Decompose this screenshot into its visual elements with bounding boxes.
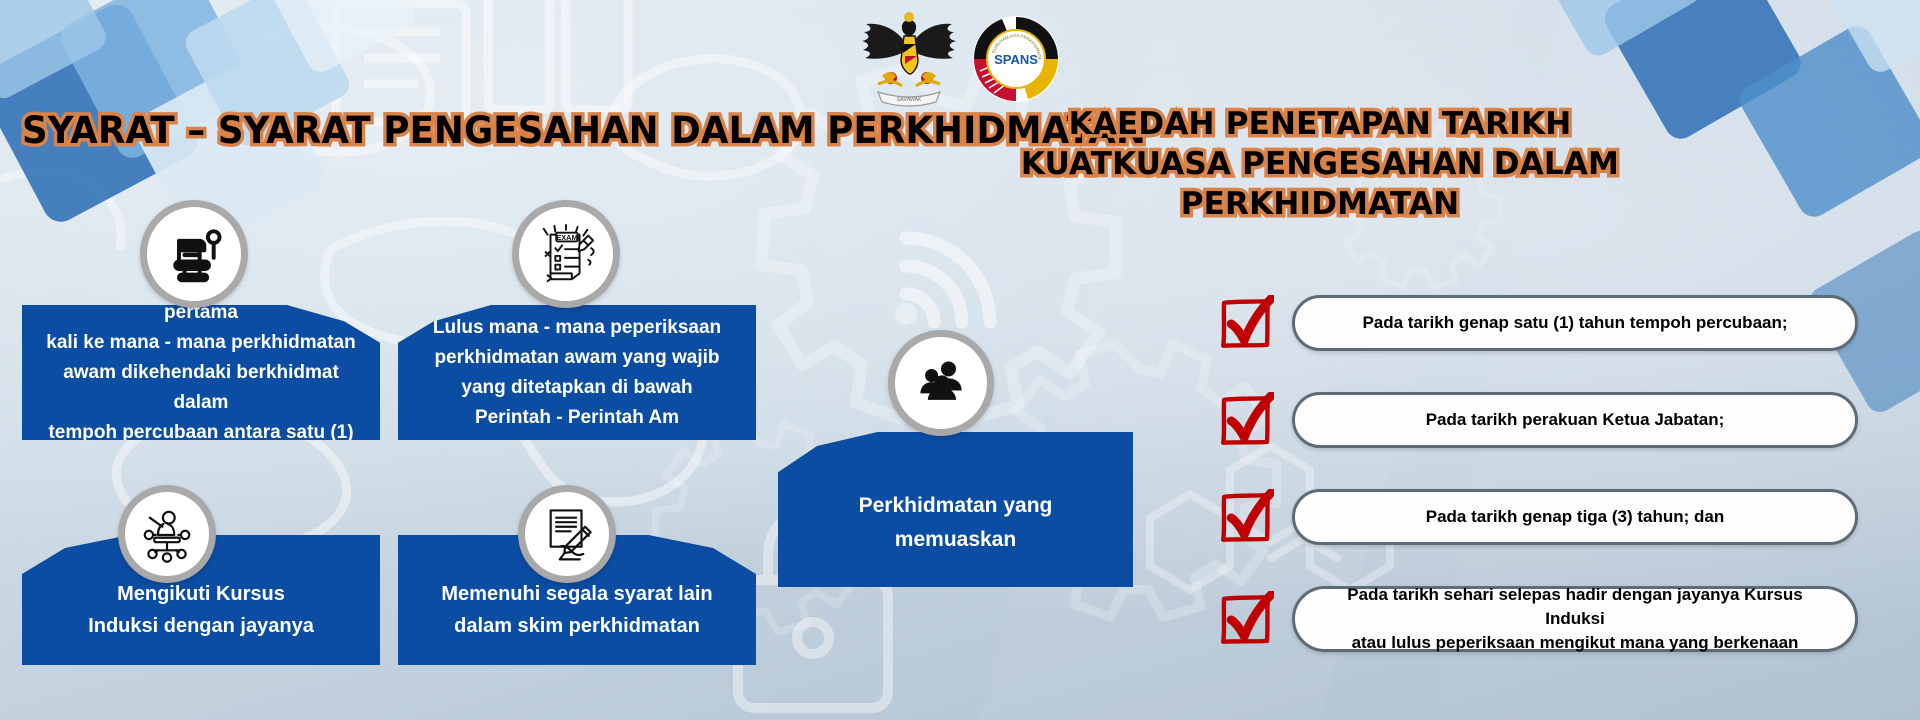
- card-tempoh-percubaan: Setiap pegawai yang dilantik pertama kal…: [22, 305, 380, 440]
- card1-line-2: kali ke mana - mana perkhidmatan: [36, 328, 366, 358]
- card1-line-3: awam dikehendaki berkhidmat dalam: [36, 358, 366, 418]
- kaedah-pill-4: Pada tarikh sehari selepas hadir dengan …: [1292, 586, 1858, 652]
- group-people-icon: [911, 353, 971, 413]
- exam-paper-pencil-icon-circle: EXAM: [512, 200, 620, 308]
- kaedah-pill-1: Pada tarikh genap satu (1) tahun tempoh …: [1292, 295, 1858, 351]
- kaedah-row-2: Pada tarikh perakuan Ketua Jabatan;: [1218, 392, 1858, 448]
- kaedah-1-line-1: Pada tarikh genap satu (1) tahun tempoh …: [1362, 311, 1787, 335]
- card5-line-2: memuaskan: [792, 523, 1119, 557]
- logo-group: SARAWAK SPANS SURUHANJAYA PERKHIDMATAN A…: [860, 6, 1060, 112]
- group-people-icon-circle: [888, 330, 994, 436]
- card3-line-2: Induksi dengan jayanya: [36, 610, 366, 642]
- red-checkbox-icon: [1218, 489, 1274, 545]
- svg-text:EXAM: EXAM: [556, 233, 577, 242]
- svg-text:SARAWAK: SARAWAK: [897, 97, 922, 103]
- kaedah-pill-2: Pada tarikh perakuan Ketua Jabatan;: [1292, 392, 1858, 448]
- signing-document-icon-circle: [518, 485, 616, 583]
- card4-line-1: Memenuhi segala syarat lain: [412, 578, 742, 610]
- training-presentation-icon-circle: [118, 485, 216, 583]
- kaedah-pill-3: Pada tarikh genap tiga (3) tahun; dan: [1292, 489, 1858, 545]
- kaedah-row-1: Pada tarikh genap satu (1) tahun tempoh …: [1218, 295, 1858, 351]
- kaedah-4-line-1: Pada tarikh sehari selepas hadir dengan …: [1317, 583, 1833, 631]
- card2-line-1: Lulus mana - mana peperiksaan: [412, 313, 742, 343]
- card4-line-2: dalam skim perkhidmatan: [412, 610, 742, 642]
- kaedah-row-3: Pada tarikh genap tiga (3) tahun; dan: [1218, 489, 1858, 545]
- kaedah-2-line-1: Pada tarikh perakuan Ketua Jabatan;: [1426, 408, 1725, 432]
- red-checkbox-icon: [1218, 295, 1274, 351]
- card2-line-3: yang ditetapkan di bawah: [412, 373, 742, 403]
- right-title-line-2: KUATKUASA PENGESAHAN DALAM: [1010, 144, 1630, 184]
- kaedah-row-4: Pada tarikh sehari selepas hadir dengan …: [1218, 586, 1858, 652]
- red-checkbox-icon: [1218, 591, 1274, 647]
- left-panel-title: SYARAT – SYARAT PENGESAHAN DALAM PERKHID…: [22, 108, 1146, 154]
- kaedah-4-line-2: atau lulus peperiksaan mengikut mana yan…: [1317, 631, 1833, 655]
- lectern-podium-icon-circle: [140, 200, 248, 308]
- right-panel-title: KAEDAH PENETAPAN TARIKH KUATKUASA PENGES…: [1010, 104, 1630, 224]
- right-title-line-3: PERKHIDMATAN: [1010, 184, 1630, 224]
- card2-line-2: perkhidmatan awam yang wajib: [412, 343, 742, 373]
- red-checkbox-icon: [1218, 392, 1274, 448]
- card5-line-1: Perkhidmatan yang: [792, 489, 1119, 523]
- training-presentation-icon: [138, 505, 196, 563]
- svg-text:SPANS: SPANS: [994, 52, 1038, 67]
- card2-line-4: Perintah - Perintah Am: [412, 403, 742, 433]
- spans-logo-icon: SPANS SURUHANJAYA PERKHIDMATAN AWAM: [972, 15, 1060, 103]
- infographic-canvas: SARAWAK SPANS SURUHANJAYA PERKHIDMATAN A…: [0, 0, 1920, 720]
- card3-line-1: Mengikuti Kursus: [36, 578, 366, 610]
- sarawak-state-crest-icon: SARAWAK: [860, 6, 958, 112]
- lectern-podium-icon: [164, 224, 224, 284]
- right-title-line-1: KAEDAH PENETAPAN TARIKH: [1010, 104, 1630, 144]
- card-perkhidmatan-memuaskan: Perkhidmatan yang memuaskan: [778, 432, 1133, 587]
- kaedah-3-line-1: Pada tarikh genap tiga (3) tahun; dan: [1426, 505, 1724, 529]
- signing-document-icon: [538, 505, 596, 563]
- exam-paper-pencil-icon: EXAM: [535, 223, 597, 285]
- card-lulus-peperiksaan: Lulus mana - mana peperiksaan perkhidmat…: [398, 305, 756, 440]
